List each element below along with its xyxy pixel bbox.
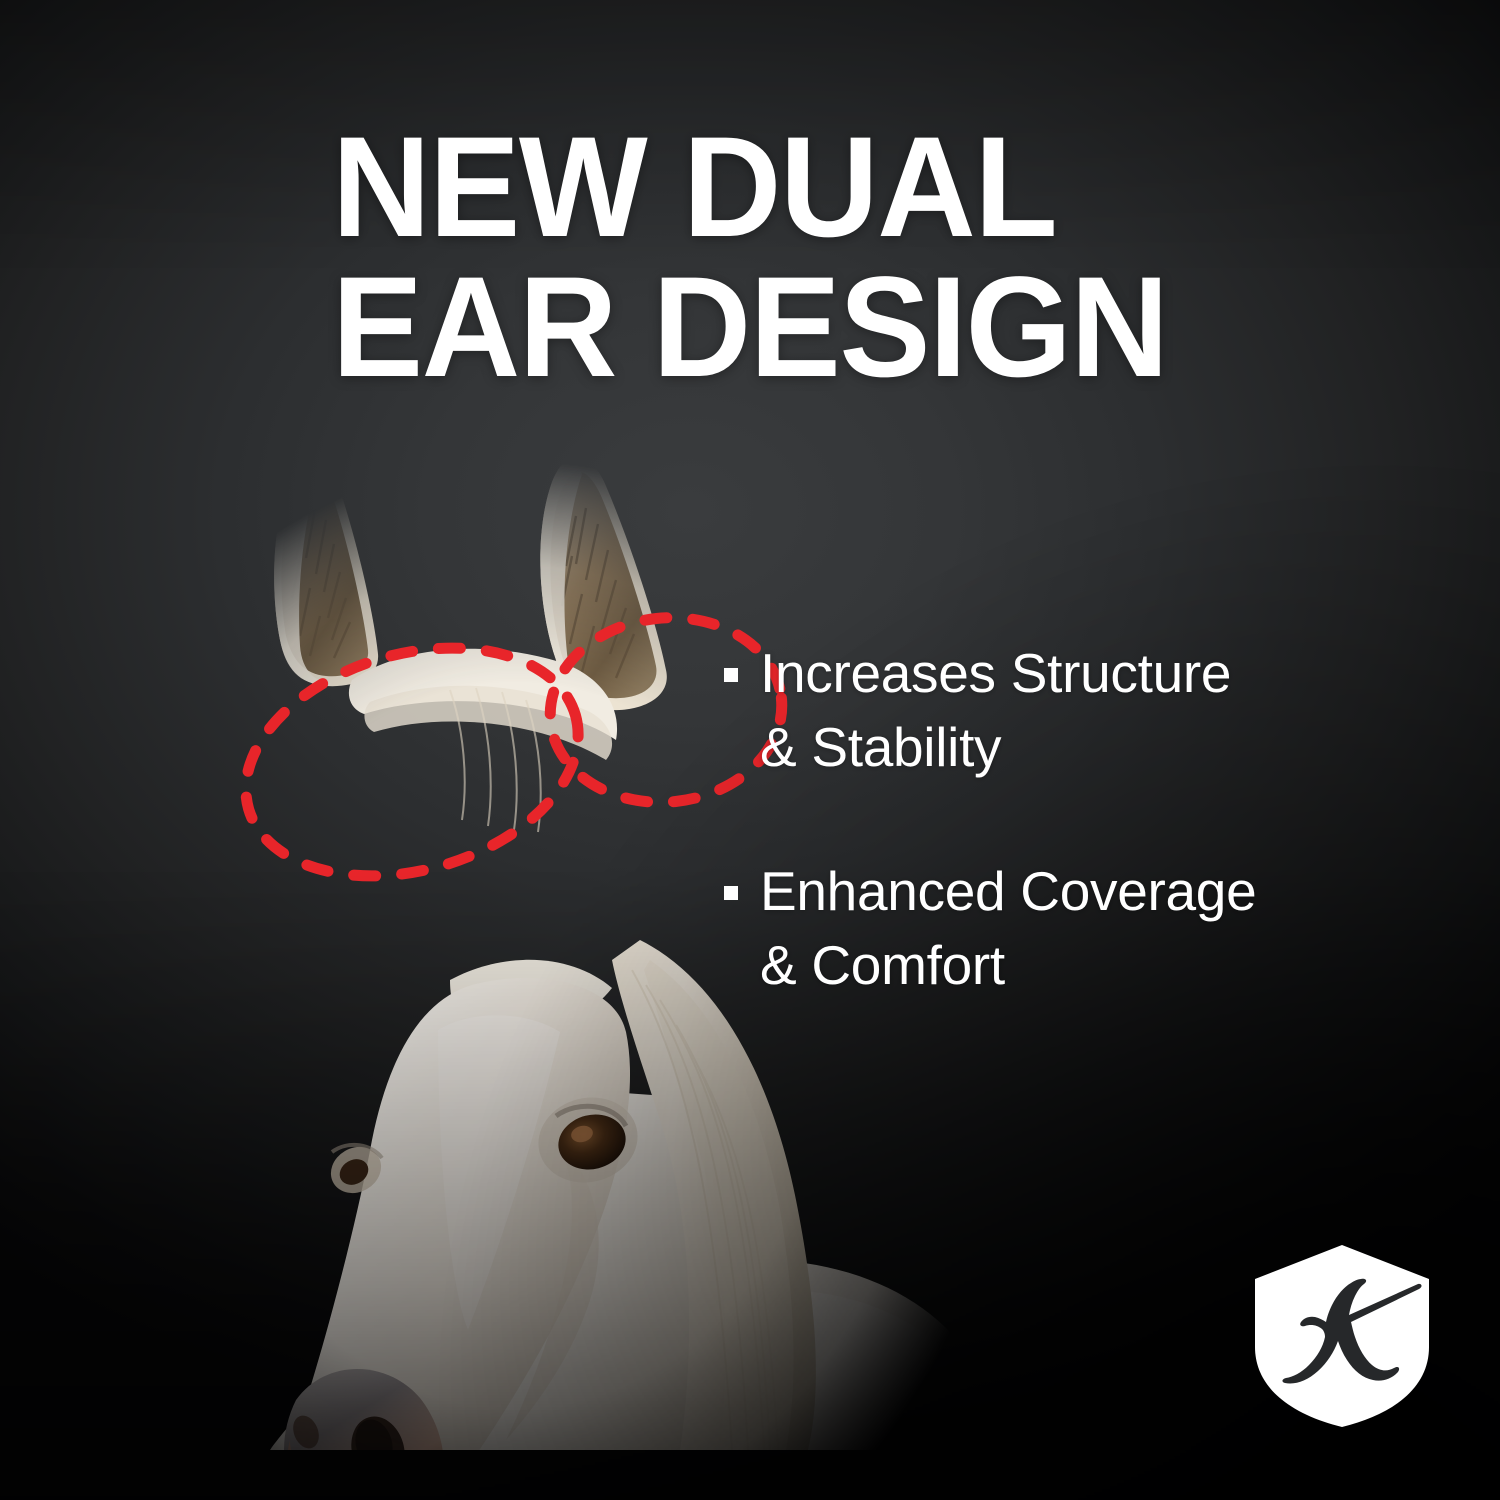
shield-k-logo xyxy=(1251,1243,1433,1429)
feature-list: Increases Structure & Stability Enhanced… xyxy=(724,636,1424,1072)
promo-graphic: NEW DUAL EAR DESIGN Increases Structure … xyxy=(0,0,1500,1500)
list-item: Enhanced Coverage & Comfort xyxy=(724,854,1424,1002)
headline-line-1: NEW DUAL xyxy=(332,118,1287,258)
page-title: NEW DUAL EAR DESIGN xyxy=(332,118,1287,398)
feature-text: Enhanced Coverage & Comfort xyxy=(760,854,1256,1002)
list-item: Increases Structure & Stability xyxy=(724,636,1424,784)
square-bullet-icon xyxy=(724,668,738,682)
headline-line-2: EAR DESIGN xyxy=(332,258,1287,398)
square-bullet-icon xyxy=(724,886,738,900)
feature-text: Increases Structure & Stability xyxy=(760,636,1231,784)
